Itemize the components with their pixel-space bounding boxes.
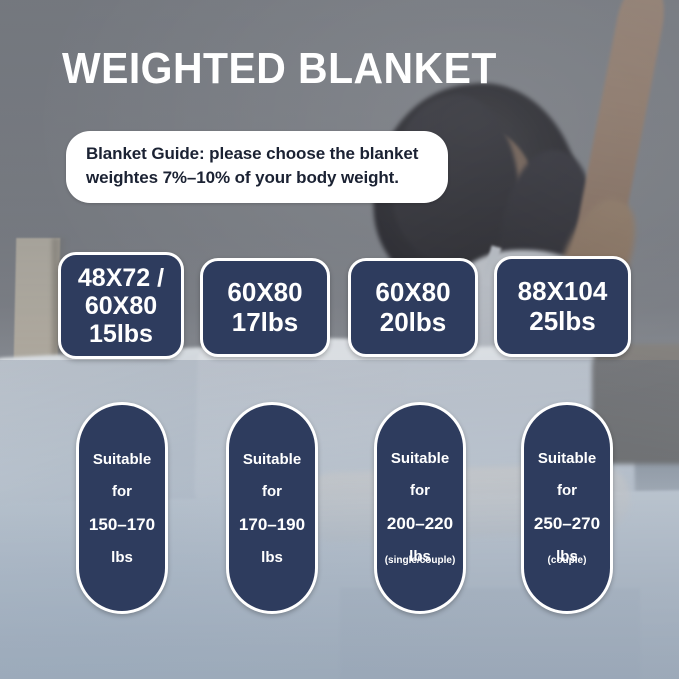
- suitability-unit-wrap: lbs: [111, 550, 133, 565]
- size-card-line-1: 48X72 /: [78, 264, 164, 292]
- size-card-row: 48X72 / 60X80 15lbs 60X80 17lbs 60X80 20…: [0, 250, 679, 365]
- size-card-line-2: 60X80: [85, 292, 157, 320]
- suitability-word-2: for: [557, 483, 577, 498]
- suitability-word-1: Suitable: [243, 452, 301, 467]
- guide-line-1: Blanket Guide: please choose the blanket: [86, 142, 428, 166]
- product-infographic: WEIGHTED BLANKET Blanket Guide: please c…: [0, 0, 679, 679]
- size-card[interactable]: 60X80 17lbs: [200, 258, 330, 357]
- suitability-unit-wrap: lbs: [261, 550, 283, 565]
- suitability-range: 250–270: [534, 515, 600, 532]
- overlay-content: WEIGHTED BLANKET Blanket Guide: please c…: [0, 0, 679, 679]
- suitability-unit: lbs: [261, 550, 283, 565]
- suitability-range: 200–220: [387, 515, 453, 532]
- suitability-unit: lbs: [111, 550, 133, 565]
- size-card-line-1: 60X80: [227, 278, 302, 307]
- suitability-card[interactable]: Suitable for 170–190 lbs: [226, 402, 318, 614]
- suitability-note: (single/couple): [385, 556, 456, 566]
- suitability-word-2: for: [262, 484, 282, 499]
- suitability-word-1: Suitable: [93, 452, 151, 467]
- suitability-range: 150–170: [89, 516, 155, 533]
- suitability-card-row: Suitable for 150–170 lbs Suitable for 17…: [0, 398, 679, 623]
- size-card-line-1: 88X104: [518, 277, 608, 306]
- suitability-note: (couple): [548, 556, 587, 566]
- suitability-word-1: Suitable: [538, 451, 596, 466]
- size-card-line-2: 25lbs: [529, 307, 596, 336]
- blanket-guide-callout: Blanket Guide: please choose the blanket…: [66, 131, 448, 203]
- size-card-line-2: 20lbs: [380, 308, 447, 337]
- suitability-range: 170–190: [239, 516, 305, 533]
- suitability-unit-wrap: lbs (couple): [548, 549, 587, 566]
- suitability-card[interactable]: Suitable for 200–220 lbs (single/couple): [374, 402, 466, 614]
- size-card[interactable]: 88X104 25lbs: [494, 256, 631, 357]
- guide-line-2: weightes 7%–10% of your body weight.: [86, 166, 428, 190]
- size-card-line-3: 15lbs: [89, 320, 153, 348]
- suitability-word-2: for: [410, 483, 430, 498]
- size-card[interactable]: 60X80 20lbs: [348, 258, 478, 357]
- page-title: WEIGHTED BLANKET: [62, 47, 497, 91]
- suitability-word-1: Suitable: [391, 451, 449, 466]
- suitability-word-2: for: [112, 484, 132, 499]
- size-card-line-2: 17lbs: [232, 308, 299, 337]
- suitability-card[interactable]: Suitable for 150–170 lbs: [76, 402, 168, 614]
- size-card-line-1: 60X80: [375, 278, 450, 307]
- suitability-card[interactable]: Suitable for 250–270 lbs (couple): [521, 402, 613, 614]
- suitability-unit-wrap: lbs (single/couple): [385, 549, 456, 566]
- size-card[interactable]: 48X72 / 60X80 15lbs: [58, 252, 184, 359]
